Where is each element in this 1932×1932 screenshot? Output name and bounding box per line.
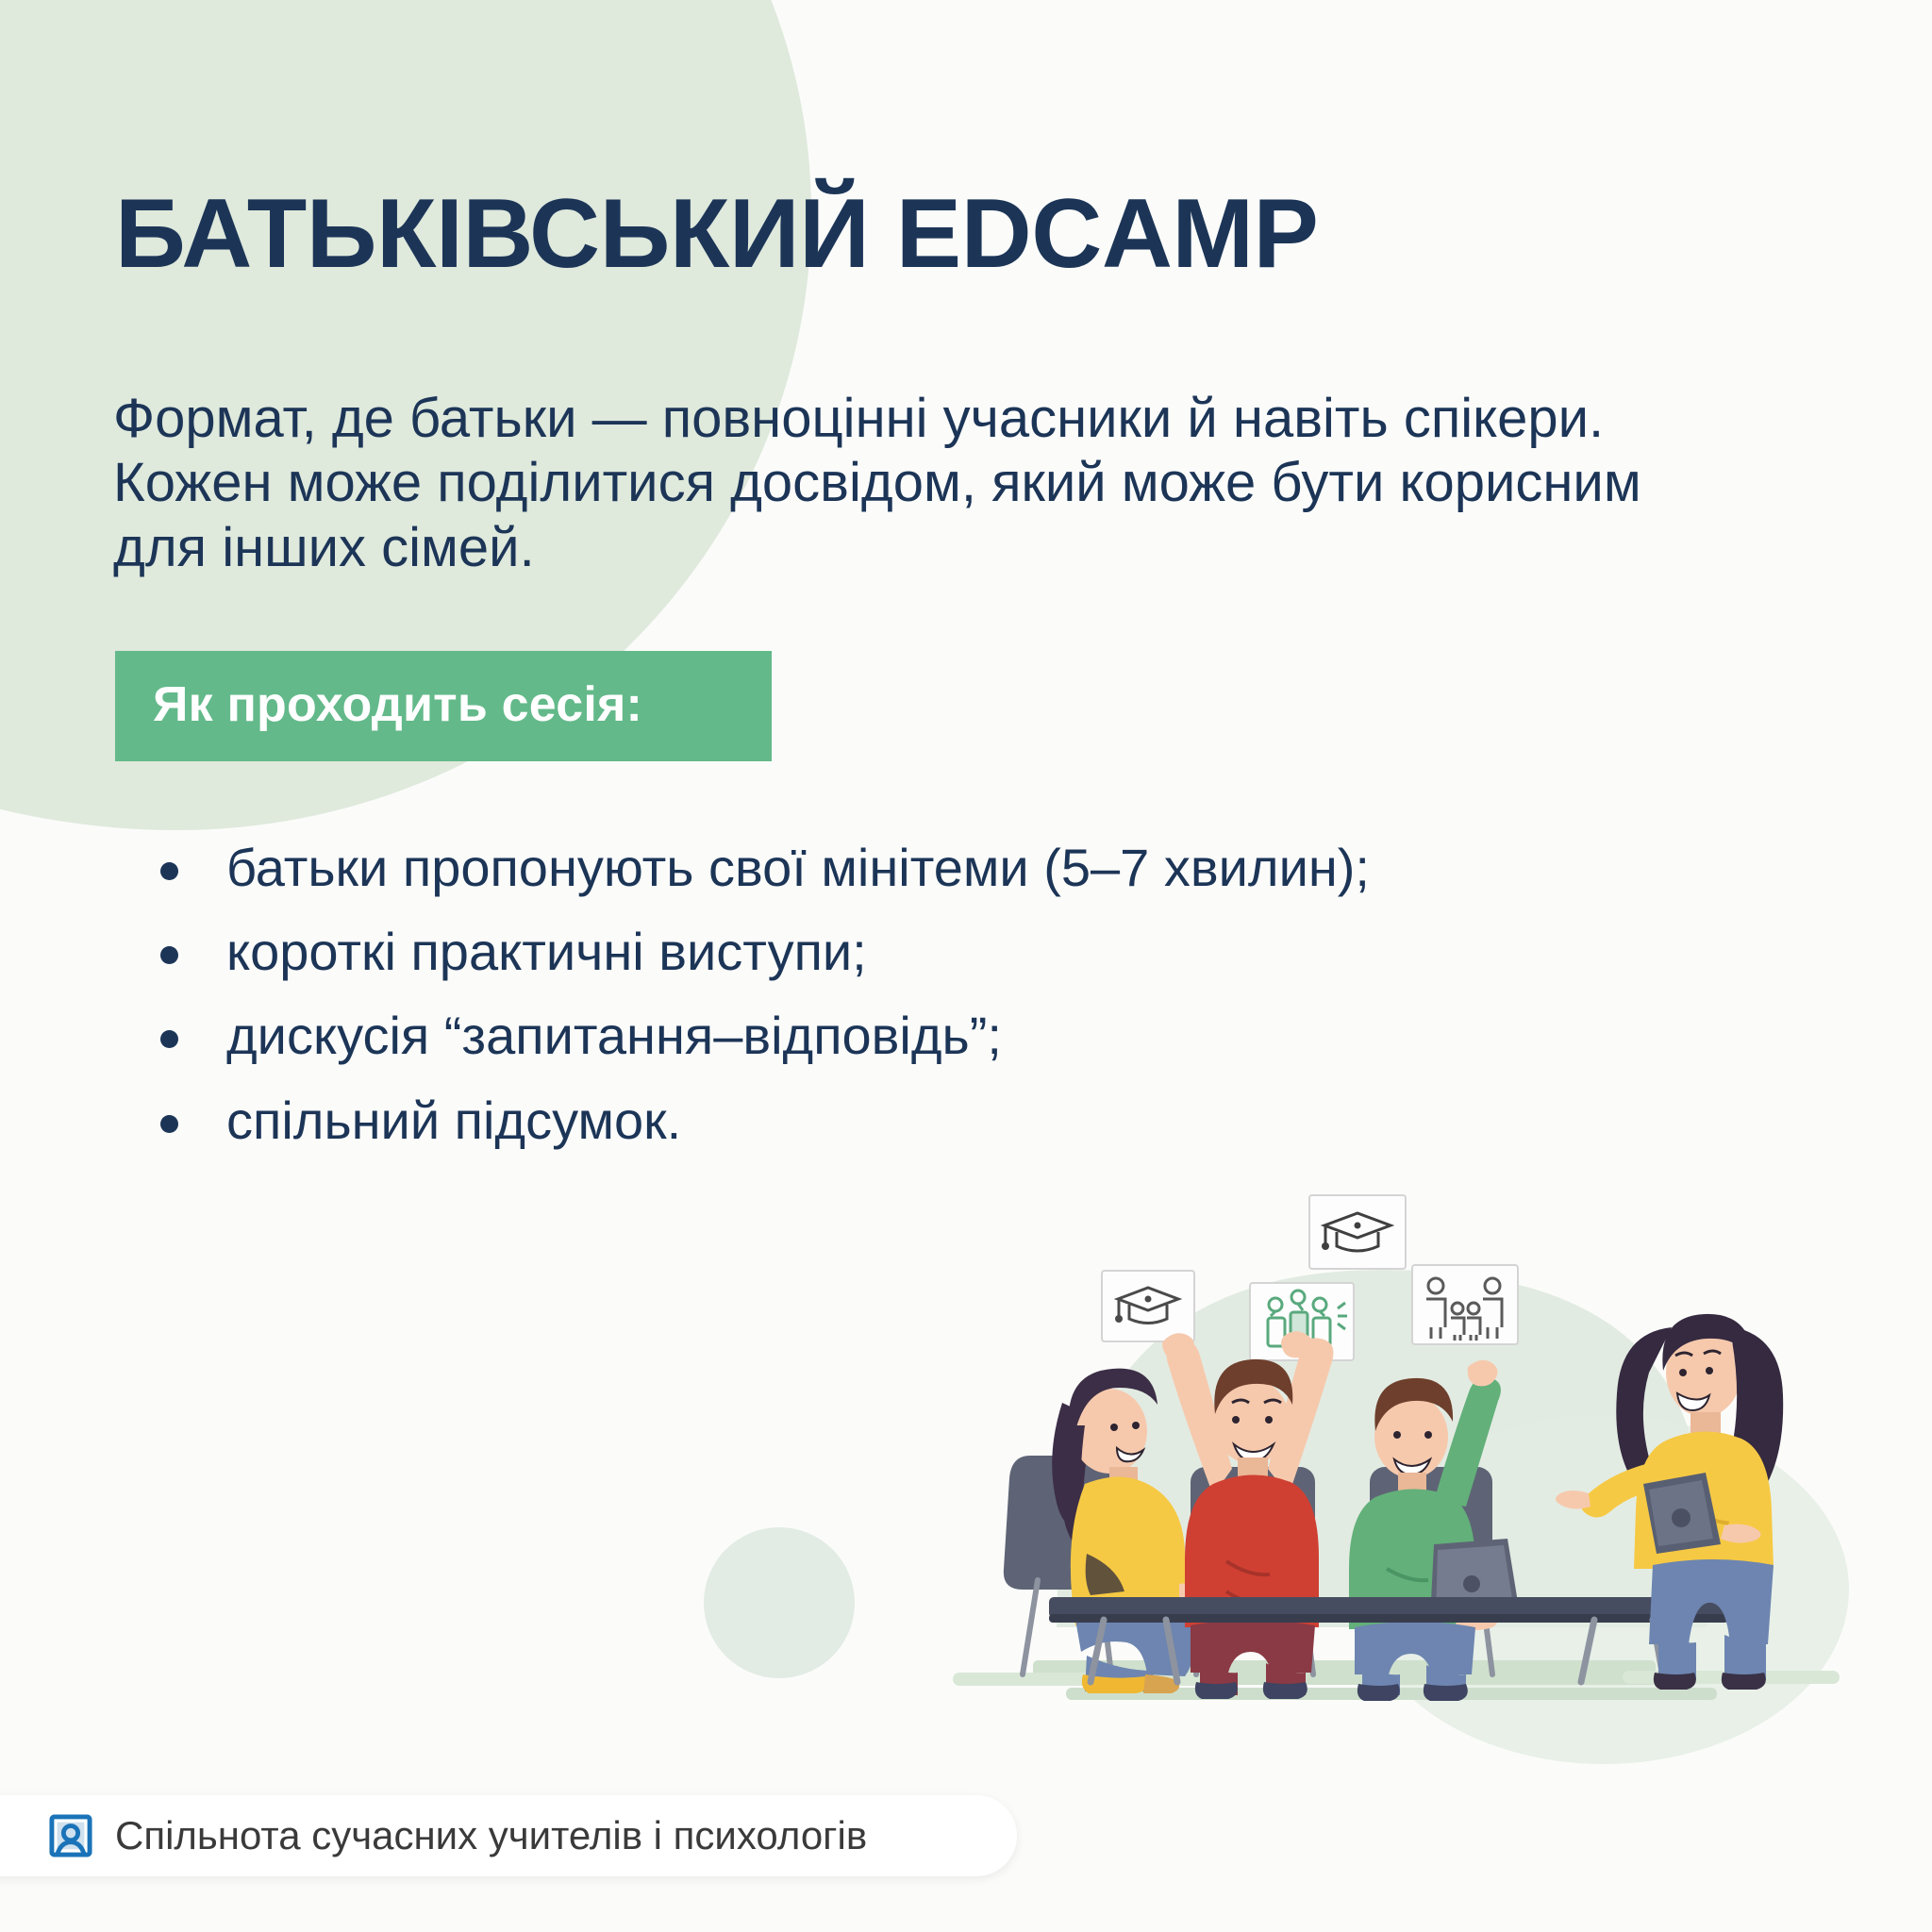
list-item: дискусія “запитання–відповідь”;: [140, 1004, 1838, 1067]
community-avatar-icon: [49, 1814, 92, 1857]
session-steps-list: батьки пропонують свої мінітеми (5–7 хви…: [140, 836, 1838, 1173]
status-badge: Як проходить сесія:: [115, 651, 772, 761]
page-title: БАТЬКІВСЬКИЙ EDCAMP: [115, 185, 1318, 283]
footer-community-bar[interactable]: Спільнота сучасних учителів і психологів: [0, 1795, 1017, 1876]
list-item: спільний підсумок.: [140, 1089, 1838, 1152]
poster-canvas: БАТЬКІВСЬКИЙ EDCAMP Формат, де батьки — …: [0, 0, 1932, 1932]
footer-community-label: Спільнота сучасних учителів і психологів: [115, 1813, 867, 1858]
list-item: короткі практичні виступи;: [140, 920, 1838, 983]
lead-paragraph: Формат, де батьки — повноцінні учасники …: [113, 387, 1717, 580]
list-item: батьки пропонують свої мінітеми (5–7 хви…: [140, 836, 1838, 899]
